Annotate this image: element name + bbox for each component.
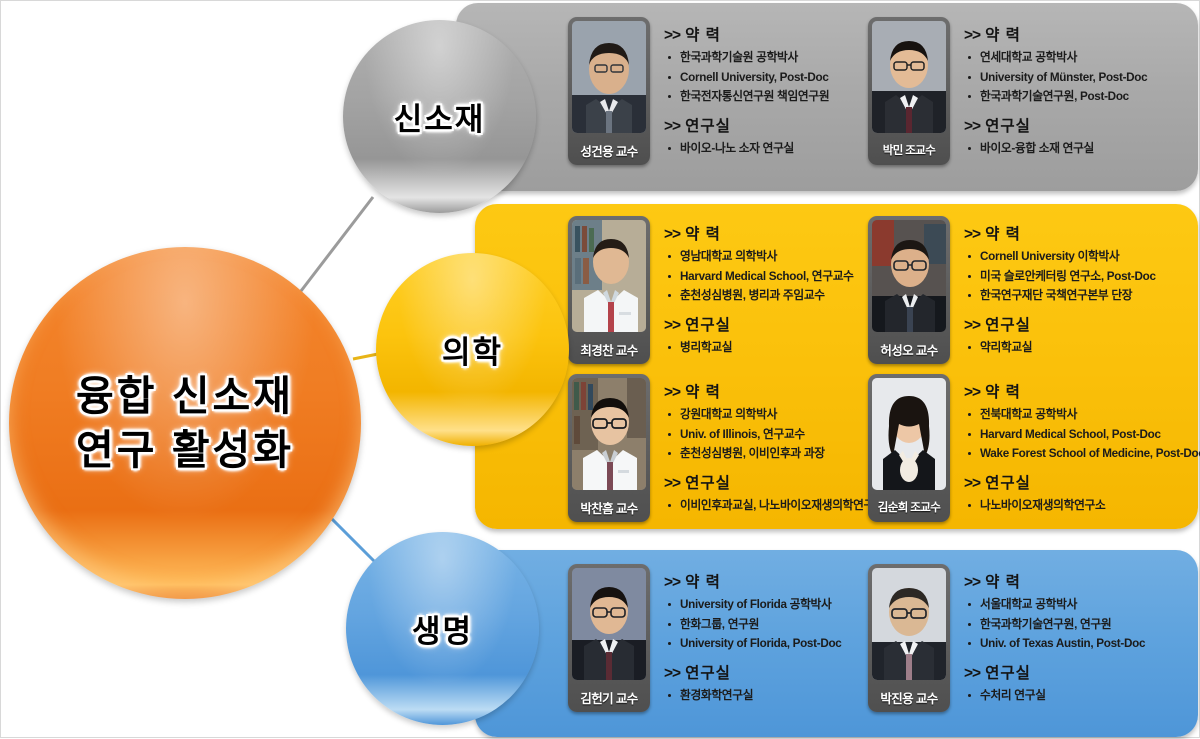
member-photo: 김순희 조교수 [868, 374, 950, 522]
career-item: 연세대학교 공학박사 [964, 48, 1147, 68]
photo-image [572, 378, 646, 490]
career-item: 한국과학기술연구원, Post-Doc [964, 87, 1147, 107]
member-name: 성건용 교수 [568, 135, 650, 165]
member-info: >>약 력 영남대학교 의학박사 Harvard Medical School,… [664, 216, 854, 364]
center-title-line1: 융합 신소재 [76, 373, 294, 419]
portrait-illustration [872, 21, 946, 133]
career-list: 강원대학교 의학박사 Univ. of Illinois, 연구교수 춘천성심병… [664, 405, 885, 464]
member-info: >>약 력 연세대학교 공학박사 University of Münster, … [964, 17, 1147, 165]
career-list: 서울대학교 공학박사 한국과학기술연구원, 연구원 Univ. of Texas… [964, 595, 1145, 654]
member-name: 김헌기 교수 [568, 682, 650, 712]
career-item: Cornell University 이학박사 [964, 247, 1156, 267]
career-item: Harvard Medical School, Post-Doc [964, 425, 1200, 445]
career-heading: >>약 력 [664, 380, 885, 402]
photo-image [572, 568, 646, 680]
career-item: 한국과학기술연구원, 연구원 [964, 615, 1145, 635]
lab-item: 바이오-융합 소재 연구실 [964, 139, 1147, 159]
career-item: 한국과학기술원 공학박사 [664, 48, 829, 68]
lab-heading: >>연구실 [664, 114, 829, 136]
lab-list: 수처리 연구실 [964, 686, 1145, 706]
career-item: University of Münster, Post-Doc [964, 68, 1147, 88]
lab-heading: >>연구실 [664, 313, 854, 335]
lab-list: 병리학교실 [664, 338, 854, 358]
member-card: 최경찬 교수 >>약 력 영남대학교 의학박사 Harvard Medical … [568, 216, 854, 364]
photo-image [872, 220, 946, 332]
member-card: 박진용 교수 >>약 력 서울대학교 공학박사 한국과학기술연구원, 연구원 U… [868, 564, 1145, 712]
career-item: University of Florida 공학박사 [664, 595, 842, 615]
lab-heading: >>연구실 [964, 661, 1145, 683]
portrait-illustration [872, 378, 946, 490]
member-info: >>약 력 전북대학교 공학박사 Harvard Medical School,… [964, 374, 1200, 522]
career-heading: >>약 력 [664, 222, 854, 244]
lab-list: 이비인후과교실, 나노바이오재생의학연구소 [664, 496, 885, 516]
center-title: 융합 신소재 연구 활성화 [76, 369, 294, 477]
category-circle-materials[interactable]: 신소재 [343, 20, 536, 213]
member-name: 박진용 교수 [868, 682, 950, 712]
career-heading: >>약 력 [664, 570, 842, 592]
career-item: Harvard Medical School, 연구교수 [664, 267, 854, 287]
member-photo: 허성오 교수 [868, 216, 950, 364]
photo-image [872, 21, 946, 133]
career-item: 전북대학교 공학박사 [964, 405, 1200, 425]
diagram-canvas: 성건용 교수 >>약 력 한국과학기술원 공학박사 Cornell Univer… [0, 0, 1200, 738]
photo-image [572, 21, 646, 133]
member-card: 성건용 교수 >>약 력 한국과학기술원 공학박사 Cornell Univer… [568, 17, 829, 165]
career-item: 서울대학교 공학박사 [964, 595, 1145, 615]
career-heading: >>약 력 [964, 23, 1147, 45]
member-photo: 박진용 교수 [868, 564, 950, 712]
career-item: 한국전자통신연구원 책임연구원 [664, 87, 829, 107]
career-heading: >>약 력 [664, 23, 829, 45]
career-list: 한국과학기술원 공학박사 Cornell University, Post-Do… [664, 48, 829, 107]
lab-heading: >>연구실 [964, 471, 1200, 493]
category-label: 의학 [442, 327, 503, 372]
member-info: >>약 력 서울대학교 공학박사 한국과학기술연구원, 연구원 Univ. of… [964, 564, 1145, 712]
career-item: 미국 슬로안케터링 연구소, Post-Doc [964, 267, 1156, 287]
career-item: Univ. of Illinois, 연구교수 [664, 425, 885, 445]
panel-materials: 성건용 교수 >>약 력 한국과학기술원 공학박사 Cornell Univer… [456, 3, 1198, 191]
category-circle-life[interactable]: 생명 [346, 532, 539, 725]
member-card: 박찬흠 교수 >>약 력 강원대학교 의학박사 Univ. of Illinoi… [568, 374, 885, 522]
lab-heading: >>연구실 [664, 471, 885, 493]
member-photo: 박민 조교수 [868, 17, 950, 165]
member-info: >>약 력 강원대학교 의학박사 Univ. of Illinois, 연구교수… [664, 374, 885, 522]
lab-heading: >>연구실 [964, 313, 1156, 335]
category-label: 생명 [412, 606, 473, 651]
lab-list: 바이오-나노 소자 연구실 [664, 139, 829, 159]
member-card: 박민 조교수 >>약 력 연세대학교 공학박사 University of Mü… [868, 17, 1147, 165]
portrait-illustration [572, 220, 646, 332]
member-photo: 성건용 교수 [568, 17, 650, 165]
category-label: 신소재 [394, 94, 486, 139]
career-item: Wake Forest School of Medicine, Post-Doc [964, 444, 1200, 464]
member-name: 박찬흠 교수 [568, 492, 650, 522]
panel-life: 김헌기 교수 >>약 력 University of Florida 공학박사 … [475, 550, 1198, 737]
connector-materials [301, 197, 373, 291]
career-list: University of Florida 공학박사 한화그룹, 연구원 Uni… [664, 595, 842, 654]
member-photo: 최경찬 교수 [568, 216, 650, 364]
lab-item: 약리학교실 [964, 338, 1156, 358]
member-photo: 김헌기 교수 [568, 564, 650, 712]
career-list: Cornell University 이학박사 미국 슬로안케터링 연구소, P… [964, 247, 1156, 306]
career-item: University of Florida, Post-Doc [664, 634, 842, 654]
lab-item: 환경화학연구실 [664, 686, 842, 706]
lab-item: 병리학교실 [664, 338, 854, 358]
career-list: 영남대학교 의학박사 Harvard Medical School, 연구교수 … [664, 247, 854, 306]
photo-image [872, 378, 946, 490]
member-name: 최경찬 교수 [568, 334, 650, 364]
lab-list: 바이오-융합 소재 연구실 [964, 139, 1147, 159]
portrait-illustration [572, 21, 646, 133]
lab-list: 약리학교실 [964, 338, 1156, 358]
member-info: >>약 력 한국과학기술원 공학박사 Cornell University, P… [664, 17, 829, 165]
lab-heading: >>연구실 [664, 661, 842, 683]
center-circle[interactable]: 융합 신소재 연구 활성화 [9, 247, 361, 599]
career-item: Cornell University, Post-Doc [664, 68, 829, 88]
lab-heading: >>연구실 [964, 114, 1147, 136]
photo-image [872, 568, 946, 680]
member-name: 박민 조교수 [868, 135, 950, 165]
career-item: 한화그룹, 연구원 [664, 615, 842, 635]
career-item: 춘천성심병원, 이비인후과 과장 [664, 444, 885, 464]
member-name: 허성오 교수 [868, 334, 950, 364]
career-item: Univ. of Texas Austin, Post-Doc [964, 634, 1145, 654]
career-heading: >>약 력 [964, 570, 1145, 592]
portrait-illustration [872, 220, 946, 332]
career-item: 춘천성심병원, 병리과 주임교수 [664, 286, 854, 306]
portrait-illustration [572, 568, 646, 680]
category-circle-medicine[interactable]: 의학 [376, 253, 569, 446]
career-item: 한국연구재단 국책연구본부 단장 [964, 286, 1156, 306]
member-info: >>약 력 Cornell University 이학박사 미국 슬로안케터링 … [964, 216, 1156, 364]
center-title-line2: 연구 활성화 [76, 427, 294, 473]
member-card: 김순희 조교수 >>약 력 전북대학교 공학박사 Harvard Medical… [868, 374, 1200, 522]
lab-item: 나노바이오재생의학연구소 [964, 496, 1200, 516]
career-heading: >>약 력 [964, 222, 1156, 244]
member-info: >>약 력 University of Florida 공학박사 한화그룹, 연… [664, 564, 842, 712]
career-heading: >>약 력 [964, 380, 1200, 402]
member-card: 김헌기 교수 >>약 력 University of Florida 공학박사 … [568, 564, 842, 712]
career-item: 강원대학교 의학박사 [664, 405, 885, 425]
career-list: 연세대학교 공학박사 University of Münster, Post-D… [964, 48, 1147, 107]
career-item: 영남대학교 의학박사 [664, 247, 854, 267]
lab-item: 이비인후과교실, 나노바이오재생의학연구소 [664, 496, 885, 516]
member-name: 김순희 조교수 [868, 492, 950, 522]
lab-list: 환경화학연구실 [664, 686, 842, 706]
panel-medicine: 최경찬 교수 >>약 력 영남대학교 의학박사 Harvard Medical … [475, 204, 1198, 529]
career-list: 전북대학교 공학박사 Harvard Medical School, Post-… [964, 405, 1200, 464]
member-photo: 박찬흠 교수 [568, 374, 650, 522]
portrait-illustration [872, 568, 946, 680]
lab-list: 나노바이오재생의학연구소 [964, 496, 1200, 516]
member-card: 허성오 교수 >>약 력 Cornell University 이학박사 미국 … [868, 216, 1156, 364]
photo-image [572, 220, 646, 332]
portrait-illustration [572, 378, 646, 490]
lab-item: 바이오-나노 소자 연구실 [664, 139, 829, 159]
lab-item: 수처리 연구실 [964, 686, 1145, 706]
